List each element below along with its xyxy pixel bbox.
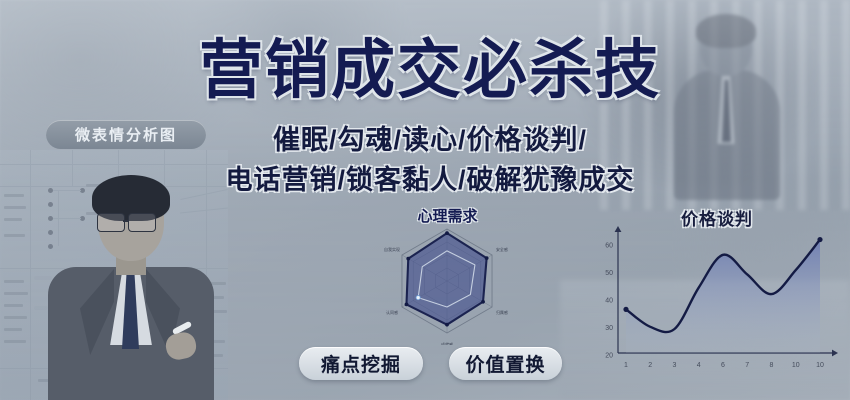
svg-text:自我实现: 自我实现: [384, 246, 400, 252]
svg-text:成就感: 成就感: [441, 341, 453, 345]
svg-text:10: 10: [792, 362, 800, 369]
subtitle-line-2: 电话营销/锁客黏人/破解犹豫成交: [150, 158, 710, 197]
eyeglasses-icon: [97, 213, 125, 232]
page-title: 营销成交必杀技: [150, 38, 710, 102]
presenter-photo: [40, 175, 220, 400]
svg-text:7: 7: [745, 362, 749, 369]
line-chart: 价格谈判 605040302012346781010: [592, 205, 842, 380]
radar-chart: 心理需求 尊重安全感归属感成就感认同感自我实现: [340, 205, 555, 345]
svg-text:6: 6: [721, 362, 725, 369]
svg-text:安全感: 安全感: [496, 246, 508, 252]
svg-text:30: 30: [605, 325, 613, 332]
svg-text:归属感: 归属感: [496, 309, 508, 315]
promo-banner: 微表情分析图 营销成交必杀技 催眠/勾魂/读心/价格谈判/ 电话营销/锁客黏人/…: [0, 0, 850, 400]
pill-pain-point[interactable]: 痛点挖掘: [299, 347, 423, 380]
eyeglasses-icon: [128, 213, 156, 232]
svg-text:50: 50: [605, 270, 613, 277]
svg-text:4: 4: [697, 362, 701, 369]
svg-text:10: 10: [816, 362, 824, 369]
svg-text:3: 3: [673, 362, 677, 369]
svg-text:20: 20: [605, 353, 613, 360]
svg-text:40: 40: [605, 298, 613, 305]
svg-text:2: 2: [648, 362, 652, 369]
svg-text:60: 60: [605, 243, 613, 250]
svg-text:认同感: 认同感: [386, 309, 398, 315]
svg-text:1: 1: [624, 362, 628, 369]
subtitle-line-1: 催眠/勾魂/读心/价格谈判/: [150, 118, 710, 157]
svg-text:8: 8: [770, 362, 774, 369]
radar-chart-svg: 尊重安全感归属感成就感认同感自我实现: [340, 221, 555, 345]
pill-value-exchange[interactable]: 价值置换: [449, 347, 562, 380]
line-chart-svg: 605040302012346781010: [592, 225, 842, 380]
